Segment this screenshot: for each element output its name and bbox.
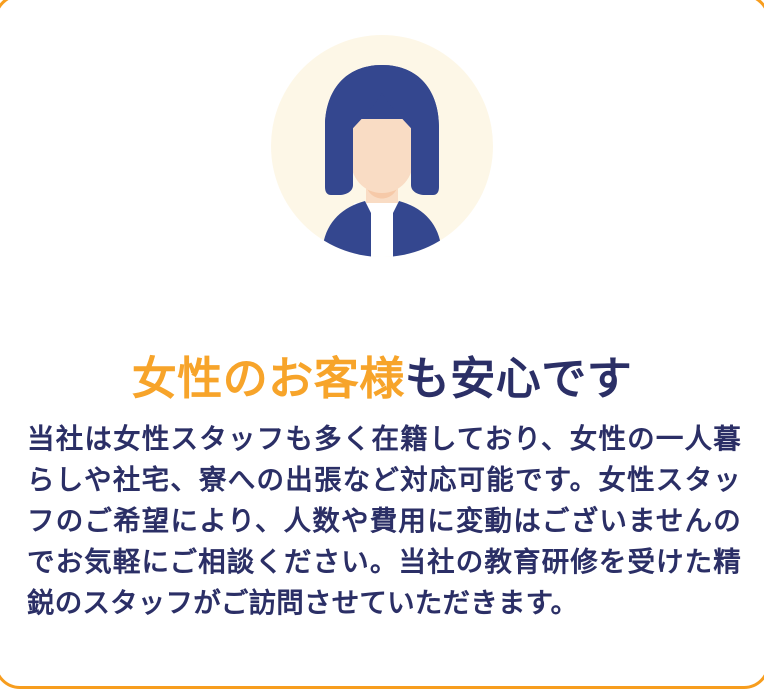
page-title: 女性のお客様も安心です bbox=[0, 356, 764, 401]
female-staff-avatar-icon bbox=[271, 35, 493, 257]
info-card: 女性のお客様も安心です 当社は女性スタッフも多く在籍しており、女性の一人暮らしや… bbox=[0, 0, 764, 689]
body-text: 当社は女性スタッフも多く在籍しており、女性の一人暮らしや社宅、寮への出張など対応… bbox=[27, 418, 741, 623]
heading-rest: も安心です bbox=[405, 353, 633, 404]
avatar-container bbox=[0, 0, 764, 257]
hair-right-strand bbox=[411, 127, 439, 195]
hair-left-strand bbox=[325, 127, 353, 195]
heading-highlight: 女性のお客様 bbox=[132, 353, 405, 404]
body-paragraph: 当社は女性スタッフも多く在籍しており、女性の一人暮らしや社宅、寮への出張など対応… bbox=[27, 418, 741, 623]
